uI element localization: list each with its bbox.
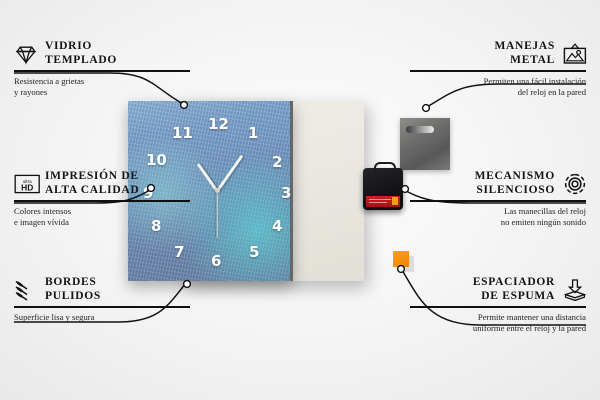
callout-rule — [410, 306, 586, 307]
callout-vidrio-templado: VIDRIO TEMPLADO Resistencia a grietas y … — [14, 40, 190, 99]
callout-description: Resistencia a grietas y rayones — [14, 76, 190, 99]
picture-frame-hook-icon — [562, 42, 586, 66]
svg-text:HD: HD — [21, 182, 33, 192]
callout-rule — [410, 200, 586, 201]
connector-dot-manejas — [423, 105, 430, 112]
clock-numeral: 5 — [249, 245, 259, 260]
callout-rule — [14, 306, 190, 307]
callout-manejas-metal: MANEJAS METAL Permiten una fácil instala… — [410, 40, 586, 99]
clock-mechanism — [363, 168, 403, 210]
callout-description: Permite mantener una distancia uniforme … — [410, 312, 586, 335]
callout-description: Colores intensos e imagen vívida — [14, 206, 190, 229]
gear-icon — [562, 172, 586, 196]
callout-description: Las manecillas del reloj no emiten ningú… — [410, 206, 586, 229]
callout-title: IMPRESIÓN DE ALTA CALIDAD — [45, 170, 139, 197]
battery-label — [366, 196, 400, 207]
callout-mecanismo-silencioso: MECANISMO SILENCIOSO Las manecillas del … — [410, 170, 586, 229]
ultra-hd-icon: ultra HD — [14, 172, 38, 196]
clock-numeral: 10 — [146, 153, 167, 168]
callout-description: Superficie lisa y segura — [14, 312, 190, 324]
clock-numeral: 3 — [281, 186, 291, 201]
mechanism-loop — [374, 162, 396, 174]
battery-plus-terminal — [392, 197, 398, 205]
callout-bordes-pulidos: BORDES PULIDOS Superficie lisa y segura — [14, 276, 190, 323]
clock-numeral: 11 — [172, 126, 193, 141]
callout-title: MECANISMO SILENCIOSO — [475, 170, 555, 197]
clock-second-hand — [216, 191, 217, 238]
polished-edges-icon — [14, 278, 38, 302]
callout-rule — [14, 70, 190, 71]
callout-espaciador-espuma: ESPACIADOR DE ESPUMA Permite mantener un… — [410, 276, 586, 335]
hanger-slot — [406, 126, 434, 133]
clock-numeral: 12 — [208, 117, 229, 132]
foam-spacer-pad — [393, 251, 409, 267]
callout-rule — [410, 70, 586, 71]
metal-hanger-plate — [400, 118, 450, 170]
callout-title: VIDRIO TEMPLADO — [45, 40, 117, 67]
clock-numeral: 1 — [248, 126, 258, 141]
callout-rule — [14, 200, 190, 201]
callout-description: Permiten una fácil instalación del reloj… — [410, 76, 586, 99]
diamond-icon — [14, 42, 38, 66]
clock-center-cap — [215, 188, 220, 193]
clock-numeral: 6 — [211, 254, 221, 269]
callout-impresion-alta-calidad: ultra HD IMPRESIÓN DE ALTA CALIDAD Color… — [14, 170, 190, 229]
callout-title: MANEJAS METAL — [495, 40, 556, 67]
clock-numeral: 4 — [272, 219, 282, 234]
callout-title: BORDES PULIDOS — [45, 276, 101, 303]
infographic-canvas: 12 1 2 3 4 5 6 7 8 9 10 11 — [0, 0, 600, 400]
foam-spacer-arrow-icon — [562, 278, 586, 302]
callout-title: ESPACIADOR DE ESPUMA — [473, 276, 555, 303]
clock-numeral: 2 — [272, 155, 282, 170]
clock-numeral: 7 — [174, 245, 184, 260]
